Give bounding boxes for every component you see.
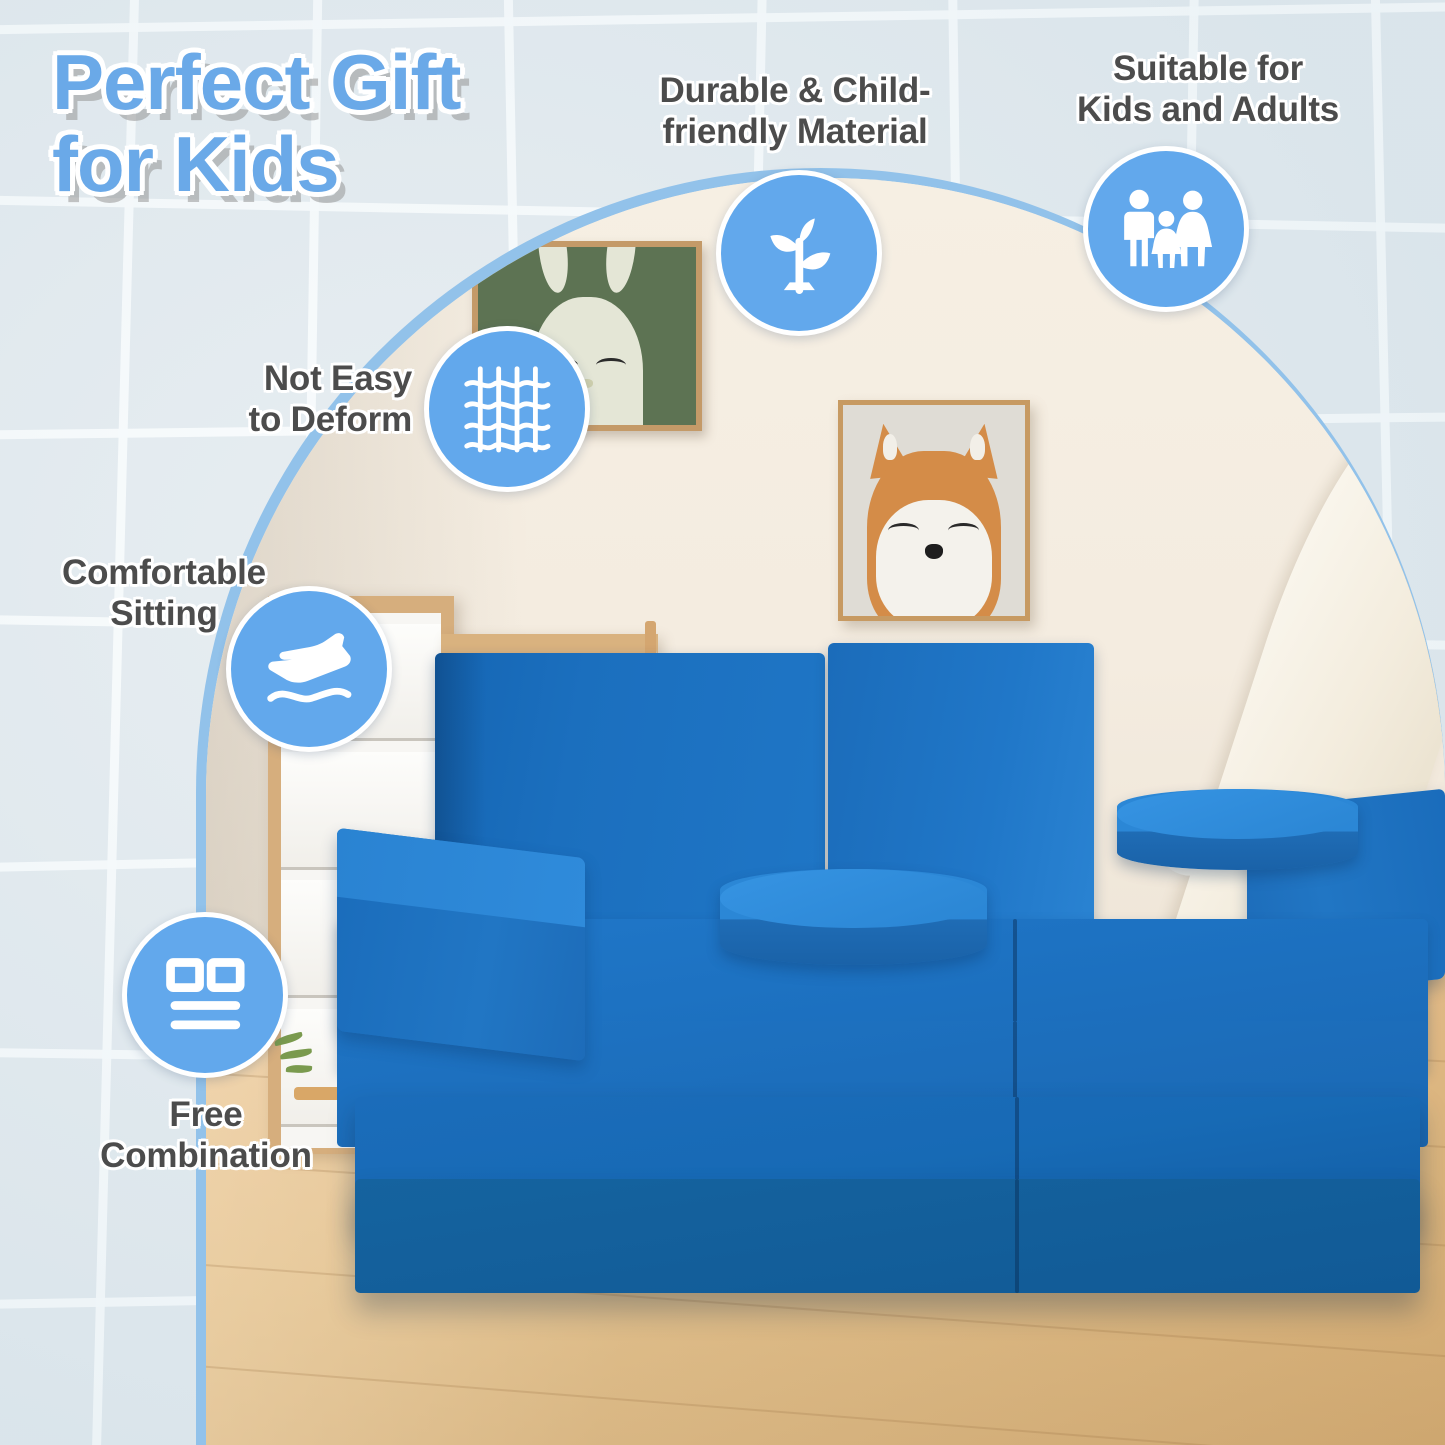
sofa-round-cushion-right xyxy=(1117,789,1359,870)
mesh-weave-icon xyxy=(424,326,590,492)
sprout-icon xyxy=(716,170,882,336)
grid-line xyxy=(0,0,1445,37)
modular-blocks-icon xyxy=(122,912,288,1078)
feature-label-not-easy-deform: Not Easy to Deform xyxy=(180,358,412,441)
feature-label-free-combination: Free Combination xyxy=(56,1094,356,1177)
sofa-arm-left xyxy=(337,828,585,1061)
grid-line xyxy=(82,0,144,1445)
hand-cushion-icon xyxy=(226,586,392,752)
feature-label-durable-material: Durable & Child- friendly Material xyxy=(600,70,990,153)
feature-label-suitable-kids-adults: Suitable for Kids and Adults xyxy=(1008,48,1408,131)
sofa-round-cushion-left xyxy=(720,869,986,965)
family-icon xyxy=(1083,146,1249,312)
page-title: Perfect Gift for Kids xyxy=(52,42,460,206)
sofa-base-slab-lower xyxy=(355,1179,1421,1293)
